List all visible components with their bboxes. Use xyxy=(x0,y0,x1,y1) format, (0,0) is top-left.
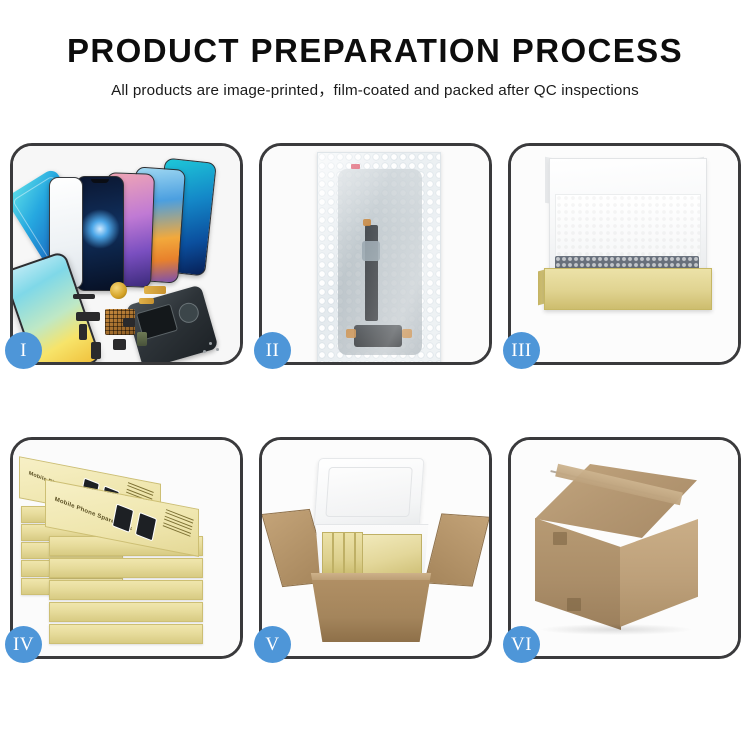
step-image-1 xyxy=(13,146,240,362)
foam-lid-inner xyxy=(325,467,412,517)
step-image-4: Mobile Phone Spare Parts Mobile Phone Sp… xyxy=(13,440,240,656)
step-panel-1[interactable]: I xyxy=(10,143,243,365)
step-badge-1: I xyxy=(5,332,42,369)
qc-red-mark xyxy=(351,164,360,169)
kapton-tab-left xyxy=(346,329,356,338)
step-panel-4[interactable]: Mobile Phone Spare Parts Mobile Phone Sp… xyxy=(10,437,243,659)
step-image-2 xyxy=(262,146,489,362)
lcd-flex-cable xyxy=(365,225,378,321)
lcd-driver-chip xyxy=(362,241,380,261)
bracket-part-1 xyxy=(76,312,100,321)
speaker-part xyxy=(110,282,127,299)
carton-packing-photo xyxy=(262,440,489,656)
bubble-wrap-sleeve xyxy=(317,152,441,362)
battery-part xyxy=(137,332,147,346)
vibrator-part xyxy=(123,318,135,327)
step-panel-6[interactable]: VI xyxy=(508,437,741,659)
stacked-box-fr-5 xyxy=(49,624,203,644)
kapton-tab-right xyxy=(402,329,412,338)
step-badge-3: III xyxy=(503,332,540,369)
lcd-connector xyxy=(354,325,402,347)
stacked-boxes-photo: Mobile Phone Spare Parts Mobile Phone Sp… xyxy=(13,440,240,656)
screw-3 xyxy=(203,350,206,353)
flex-cable-part-1 xyxy=(144,286,166,294)
step-badge-4: IV xyxy=(5,626,42,663)
kapton-tab-top xyxy=(363,219,371,226)
page-title: PRODUCT PREPARATION PROCESS xyxy=(0,34,750,69)
flex-cable-part-2 xyxy=(139,298,154,304)
earpiece-mesh-part xyxy=(73,294,95,299)
carton-shadow xyxy=(541,624,691,635)
sim-tray-part xyxy=(91,342,101,359)
box-spec-lines-front xyxy=(162,509,193,539)
process-step-grid: I II xyxy=(10,143,740,659)
yellow-boxes-group xyxy=(322,532,420,576)
header: PRODUCT PREPARATION PROCESS All products… xyxy=(0,0,750,100)
step-badge-5: V xyxy=(254,626,291,663)
phone-screen-2 xyxy=(76,176,124,291)
stacked-box-fr-4 xyxy=(49,602,203,622)
step-image-6 xyxy=(511,440,738,656)
camera-module-part xyxy=(113,339,126,350)
step-panel-2[interactable]: II xyxy=(259,143,492,365)
step-image-3 xyxy=(511,146,738,362)
screw-1 xyxy=(209,342,212,345)
yellow-boxes-flat xyxy=(362,534,422,576)
step-badge-6: VI xyxy=(503,626,540,663)
carton-tab-lower xyxy=(567,598,581,611)
step-image-5 xyxy=(262,440,489,656)
carton-left-face xyxy=(535,518,621,630)
yellow-box-upright-2 xyxy=(333,532,344,578)
phone-parts-photo xyxy=(13,146,240,362)
phone-notch xyxy=(91,179,109,183)
carton-flap-right xyxy=(424,513,489,586)
step-panel-3[interactable]: III xyxy=(508,143,741,365)
open-yellow-box-photo xyxy=(511,146,738,362)
wallpaper-glow xyxy=(80,209,120,249)
step-badge-2: II xyxy=(254,332,291,369)
step-panel-5[interactable]: V xyxy=(259,437,492,659)
screw-2 xyxy=(216,348,219,351)
carton-body xyxy=(307,580,435,642)
foam-lid xyxy=(314,458,425,528)
yellow-box-tray xyxy=(544,268,712,310)
bubble-wrap-photo xyxy=(262,146,489,362)
carton-tab-upper xyxy=(553,532,567,545)
page-subtitle: All products are image-printed，film-coat… xyxy=(0,78,750,100)
box-swatch-front-2 xyxy=(135,512,157,542)
stacked-box-fr-2 xyxy=(49,558,203,578)
yellow-box-upright-3 xyxy=(344,532,355,578)
stacked-box-fr-3 xyxy=(49,580,203,600)
yellow-box-upright-1 xyxy=(322,532,333,578)
sealed-carton-photo xyxy=(511,440,738,656)
bracket-part-2 xyxy=(79,324,87,340)
